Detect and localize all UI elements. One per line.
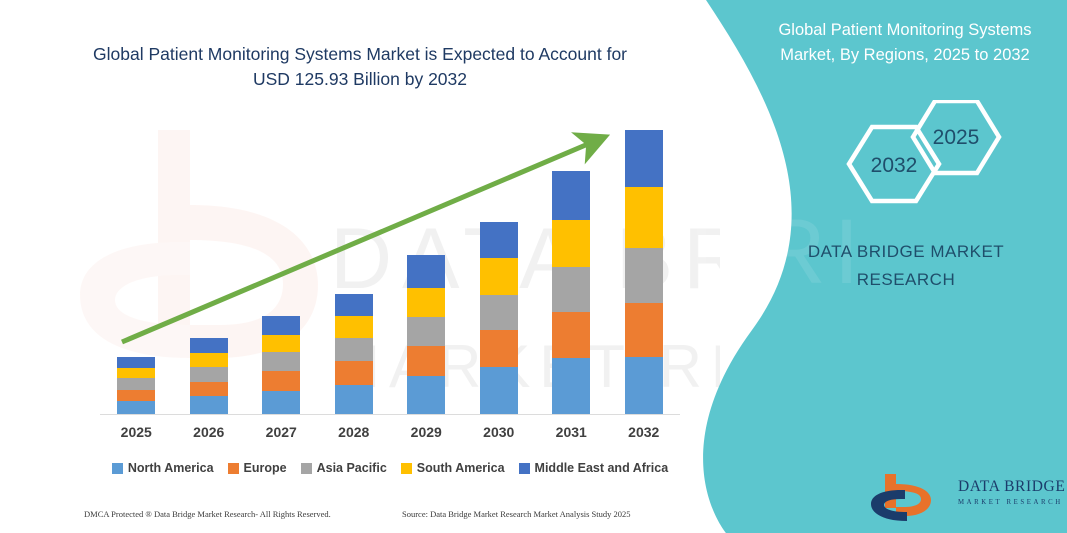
legend-item[interactable]: Asia Pacific bbox=[301, 461, 387, 475]
right-panel-title: Global Patient Monitoring Systems Market… bbox=[755, 18, 1055, 68]
bar-segment bbox=[625, 130, 663, 187]
footer-copyright: DMCA Protected ® Data Bridge Market Rese… bbox=[84, 509, 331, 519]
bar-segment bbox=[480, 258, 518, 295]
bar-segment bbox=[625, 187, 663, 248]
bar-segment bbox=[117, 390, 155, 401]
x-axis-label: 2025 bbox=[100, 424, 173, 440]
legend-item[interactable]: South America bbox=[401, 461, 505, 475]
legend-item[interactable]: Middle East and Africa bbox=[519, 461, 669, 475]
stacked-bar[interactable] bbox=[117, 357, 155, 415]
dbmr-logo-icon bbox=[865, 468, 1055, 524]
legend-label: South America bbox=[417, 461, 505, 475]
x-axis-labels: 20252026202720282029203020312032 bbox=[100, 424, 680, 440]
legend-swatch bbox=[519, 463, 530, 474]
bar-segment bbox=[335, 294, 373, 316]
bar-segment bbox=[117, 378, 155, 389]
footer-source: Source: Data Bridge Market Research Mark… bbox=[402, 509, 631, 519]
bar-slot bbox=[608, 130, 681, 415]
bar-segment bbox=[190, 367, 228, 382]
bar-segment bbox=[552, 267, 590, 312]
bar-segment bbox=[480, 295, 518, 331]
bar-segment bbox=[480, 367, 518, 415]
bar-slot bbox=[100, 130, 173, 415]
bar-segment bbox=[262, 316, 300, 335]
right-panel-content: Global Patient Monitoring Systems Market… bbox=[745, 0, 1067, 533]
legend-swatch bbox=[401, 463, 412, 474]
bar-segment bbox=[190, 338, 228, 354]
bar-segment bbox=[335, 361, 373, 385]
x-axis-label: 2026 bbox=[173, 424, 246, 440]
bar-segment bbox=[117, 357, 155, 368]
legend-label: Middle East and Africa bbox=[535, 461, 669, 475]
x-axis-label: 2029 bbox=[390, 424, 463, 440]
bar-segment bbox=[262, 352, 300, 371]
x-axis-label: 2032 bbox=[608, 424, 681, 440]
bar-segment bbox=[117, 401, 155, 415]
hexagon-2025-label: 2025 bbox=[933, 126, 980, 149]
stacked-bar[interactable] bbox=[190, 338, 228, 415]
right-panel-brand: DATA BRIDGE MARKET RESEARCH bbox=[761, 238, 1051, 294]
bar-segment bbox=[552, 358, 590, 415]
page-title: Global Patient Monitoring Systems Market… bbox=[90, 42, 630, 92]
stacked-bar[interactable] bbox=[407, 255, 445, 415]
chart-legend: North AmericaEuropeAsia PacificSouth Ame… bbox=[100, 461, 680, 475]
bar-slot bbox=[535, 130, 608, 415]
bar-slot bbox=[390, 130, 463, 415]
chart-baseline bbox=[100, 414, 680, 415]
hexagon-2032-label: 2032 bbox=[871, 154, 918, 177]
bar-segment bbox=[262, 335, 300, 353]
bar-segment bbox=[335, 385, 373, 415]
bar-slot bbox=[173, 130, 246, 415]
x-axis-label: 2030 bbox=[463, 424, 536, 440]
legend-label: Europe bbox=[244, 461, 287, 475]
x-axis-label: 2027 bbox=[245, 424, 318, 440]
legend-label: Asia Pacific bbox=[317, 461, 387, 475]
stacked-bar[interactable] bbox=[480, 222, 518, 415]
stacked-bar[interactable] bbox=[262, 316, 300, 415]
x-axis-label: 2028 bbox=[318, 424, 391, 440]
x-axis-label: 2031 bbox=[535, 424, 608, 440]
bar-slot bbox=[245, 130, 318, 415]
bar-segment bbox=[407, 288, 445, 317]
infographic-root: DATA BRIDGE MARKET RESEARCH Global Patie… bbox=[0, 0, 1067, 533]
bar-segment bbox=[407, 317, 445, 346]
bar-segment bbox=[407, 376, 445, 415]
bar-segment bbox=[335, 316, 373, 338]
legend-swatch bbox=[301, 463, 312, 474]
bar-segment bbox=[190, 396, 228, 415]
bar-segment bbox=[335, 338, 373, 361]
bar-segment bbox=[262, 391, 300, 415]
left-panel: DATA BRIDGE MARKET RESEARCH Global Patie… bbox=[0, 0, 720, 533]
bar-segment bbox=[117, 368, 155, 378]
bar-segment bbox=[625, 357, 663, 415]
bar-segment bbox=[625, 248, 663, 303]
stacked-bar-chart bbox=[100, 130, 680, 415]
bar-segment bbox=[262, 371, 300, 391]
stacked-bar[interactable] bbox=[552, 171, 590, 415]
bar-segment bbox=[480, 330, 518, 367]
bar-segment bbox=[552, 220, 590, 267]
bar-segment bbox=[190, 353, 228, 367]
legend-swatch bbox=[112, 463, 123, 474]
bar-slot bbox=[463, 130, 536, 415]
dbmr-logo-name: DATA BRIDGE bbox=[958, 478, 1065, 496]
bar-segment bbox=[480, 222, 518, 259]
legend-item[interactable]: Europe bbox=[228, 461, 287, 475]
bar-segment bbox=[407, 346, 445, 376]
dbmr-logo-subtitle: MARKET RESEARCH bbox=[958, 499, 1063, 506]
bar-segment bbox=[625, 303, 663, 356]
stacked-bar[interactable] bbox=[625, 130, 663, 415]
bar-segment bbox=[552, 312, 590, 358]
stacked-bar[interactable] bbox=[335, 294, 373, 415]
bar-slot bbox=[318, 130, 391, 415]
hexagon-group: 2025 2032 bbox=[745, 100, 1067, 220]
bar-segment bbox=[552, 171, 590, 220]
legend-item[interactable]: North America bbox=[112, 461, 214, 475]
legend-label: North America bbox=[128, 461, 214, 475]
bar-segment bbox=[190, 382, 228, 397]
bar-segment bbox=[407, 255, 445, 287]
legend-swatch bbox=[228, 463, 239, 474]
